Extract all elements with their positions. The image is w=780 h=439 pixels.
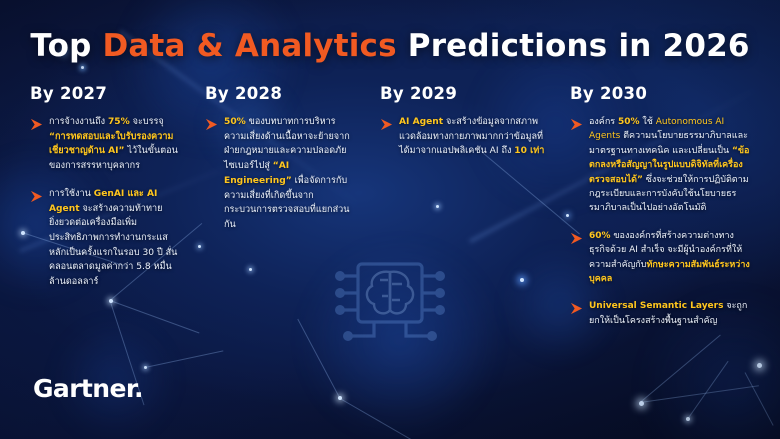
prediction-bullet: AI Agent จะสร้างข้อมูลจากสภาพแวดล้อมทางก… xyxy=(380,115,545,159)
text-segment: 50% xyxy=(618,117,640,127)
bullet-list: 50% ของบทบาทการบริหารความเสี่ยงด้านเนื้อ… xyxy=(205,115,357,233)
column-by-2027: By 2027 การจ้างงานถึง 75% จะบรรจุ “การทด… xyxy=(30,84,178,303)
column-heading: By 2029 xyxy=(380,84,545,103)
logo-mark: . xyxy=(134,374,143,403)
column-by-2029: By 2029 AI Agent จะสร้างข้อมูลจากสภาพแวด… xyxy=(380,84,545,172)
bullet-list: AI Agent จะสร้างข้อมูลจากสภาพแวดล้อมทางก… xyxy=(380,115,545,159)
text-segment: 10 เท่า xyxy=(514,146,544,156)
prediction-bullet: การใช้งาน GenAI และ AI Agent จะสร้างความ… xyxy=(30,187,178,290)
prediction-text: AI Agent จะสร้างข้อมูลจากสภาพแวดล้อมทางก… xyxy=(399,115,545,159)
column-heading: By 2030 xyxy=(570,84,750,103)
prediction-bullet: 60% ขององค์กรที่สร้างความต่างทางธุรกิจด้… xyxy=(570,229,750,287)
text-segment: 60% xyxy=(589,231,611,241)
arrow-marker-icon xyxy=(205,118,218,131)
arrow-marker-icon xyxy=(570,118,583,131)
title-accent: Data & Analytics xyxy=(102,28,396,64)
gartner-logo: Gartner. xyxy=(33,374,143,403)
prediction-text: การจ้างงานถึง 75% จะบรรจุ “การทดสอบและใบ… xyxy=(49,115,178,174)
text-segment: การจ้างงานถึง xyxy=(49,117,108,127)
prediction-bullet: 50% ของบทบาทการบริหารความเสี่ยงด้านเนื้อ… xyxy=(205,115,357,233)
page-title: Top Data & Analytics Predictions in 2026 xyxy=(0,28,780,64)
text-segment: จะบรรจุ xyxy=(130,117,164,127)
prediction-bullet: องค์กร 50% ใช้ Autonomous AI Agents ตีคว… xyxy=(570,115,750,216)
column-heading: By 2028 xyxy=(205,84,357,103)
arrow-marker-icon xyxy=(570,302,583,315)
prediction-bullet: การจ้างงานถึง 75% จะบรรจุ “การทดสอบและใบ… xyxy=(30,115,178,174)
text-segment: องค์กร xyxy=(589,117,618,127)
prediction-text: องค์กร 50% ใช้ Autonomous AI Agents ตีคว… xyxy=(589,115,750,216)
column-heading: By 2027 xyxy=(30,84,178,103)
bullet-list: การจ้างงานถึง 75% จะบรรจุ “การทดสอบและใบ… xyxy=(30,115,178,290)
prediction-text: Universal Semantic Layers จะถูกยกให้เป็น… xyxy=(589,299,750,328)
arrow-marker-icon xyxy=(380,118,393,131)
title-part-1: Top xyxy=(30,28,102,64)
text-segment: AI Agent xyxy=(399,117,443,127)
prediction-text: การใช้งาน GenAI และ AI Agent จะสร้างความ… xyxy=(49,187,178,290)
logo-text: Gartner xyxy=(33,374,134,403)
text-segment: Universal Semantic Layers xyxy=(589,301,723,311)
text-segment: 50% xyxy=(224,117,246,127)
prediction-text: 60% ขององค์กรที่สร้างความต่างทางธุรกิจด้… xyxy=(589,229,750,287)
text-segment: ใช้ xyxy=(640,117,656,127)
text-segment: จะสร้างความท้าทายยิ่งยวดต่อเครื่องมือเพิ… xyxy=(49,204,177,288)
column-by-2028: By 2028 50% ของบทบาทการบริหารความเสี่ยงด… xyxy=(205,84,357,246)
prediction-bullet: Universal Semantic Layers จะถูกยกให้เป็น… xyxy=(570,299,750,328)
bullet-list: องค์กร 50% ใช้ Autonomous AI Agents ตีคว… xyxy=(570,115,750,328)
prediction-text: 50% ของบทบาทการบริหารความเสี่ยงด้านเนื้อ… xyxy=(224,115,357,233)
arrow-marker-icon xyxy=(30,190,43,203)
title-part-2: Predictions in 2026 xyxy=(397,28,750,64)
text-segment: 75% xyxy=(108,117,130,127)
arrow-marker-icon xyxy=(30,118,43,131)
column-by-2030: By 2030 องค์กร 50% ใช้ Autonomous AI Age… xyxy=(570,84,750,341)
text-segment: การใช้งาน xyxy=(49,189,94,199)
arrow-marker-icon xyxy=(570,232,583,245)
